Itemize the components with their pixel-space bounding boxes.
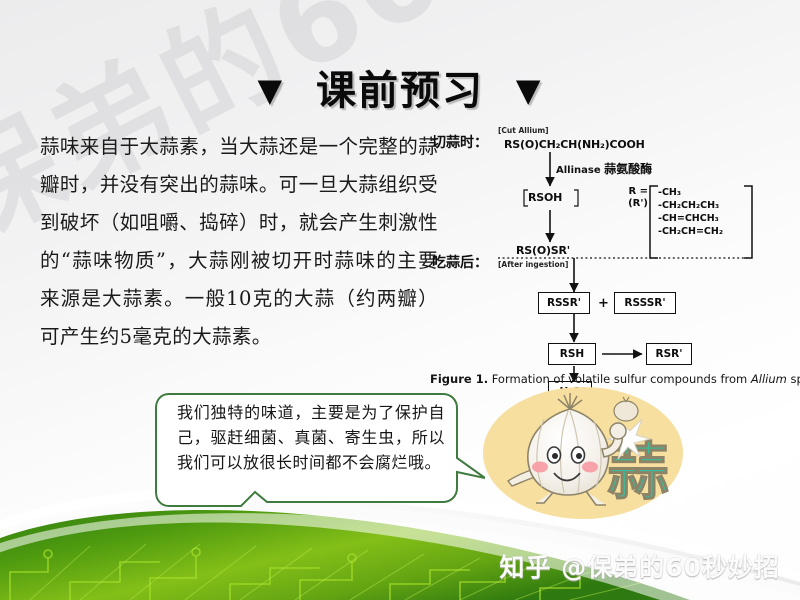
figure-caption-text-a: Formation of volatile sulfur compounds f… (492, 372, 748, 386)
bottom-right-watermark: 知乎 @保弟的60秒妙招 (500, 548, 781, 584)
figure-caption-italic: Allium (751, 372, 787, 386)
box-rsh: RSH (548, 343, 596, 365)
page-title: ▼ 课前预习 ▼ (258, 58, 543, 116)
title-bar: ▼ 课前预习 ▼ (0, 58, 800, 116)
r-group-item: -CH₂CH=CH₂ (658, 225, 723, 238)
mascot-fist (610, 423, 626, 439)
chem-precursor: RS(O)CH₂CH(NH₂)COOH (504, 138, 645, 151)
enzyme-label: Allinase 蒜氨酸酶 (556, 160, 652, 177)
triangle-left-icon: ▼ (258, 71, 285, 109)
mascot-blush-right (582, 462, 598, 473)
garlic-mascot-illustration: 蒜 (478, 385, 688, 525)
plus-sign: + (598, 296, 609, 311)
chemistry-figure: 切蒜时： 吃蒜后： (430, 124, 790, 394)
slide-canvas: 保弟的60秒妙招 (0, 0, 800, 600)
enzyme-name-en: Allinase (556, 165, 601, 176)
figure-caption-text-b: species. (791, 372, 800, 386)
enzyme-name-cn: 蒜氨酸酶 (604, 162, 652, 176)
r-group-list: -CH₃ -CH₂CH₂CH₃ -CH=CHCH₃ -CH₂CH=CH₂ (658, 186, 723, 238)
box-rsr: RSR' (646, 343, 692, 365)
small-clove-icon (614, 401, 638, 421)
chem-rsosr: RS(O)SR' (516, 244, 570, 257)
page-title-text: 课前预习 (316, 68, 484, 114)
body-paragraph: 蒜味来自于大蒜素，当大蒜还是一个完整的蒜瓣时，并没有突出的蒜味。可一旦大蒜组织受… (40, 128, 438, 356)
r-group-item: -CH=CHCH₃ (658, 212, 723, 225)
figure-caption: Figure 1. Formation of volatile sulfur c… (430, 372, 790, 386)
r-prime-label: (R') (628, 198, 648, 209)
tag-cut-allium: [Cut Allium] (498, 126, 549, 135)
mascot-blush-left (532, 462, 548, 473)
tag-after-ingestion: [After ingestion] (498, 260, 568, 269)
figure-diagram-body: [Cut Allium] RS(O)CH₂CH(NH₂)COOH Allinas… (498, 124, 790, 394)
r-equals-label: R = (628, 186, 648, 197)
speech-bubble: 我们独特的味道，主要是为了保护自己，驱赶细菌、真菌、寄生虫，所以我们可以放很长时… (155, 388, 485, 513)
r-group-equals: R =(R') (602, 186, 648, 210)
r-group-item: -CH₃ (658, 186, 723, 199)
chem-rsoh: RSOH (528, 191, 562, 204)
speech-bubble-text: 我们独特的味道，主要是为了保护自己，驱赶细菌、真菌、寄生虫，所以我们可以放很长时… (177, 400, 445, 475)
box-rssssr: RSSSR' (614, 292, 676, 314)
r-group-item: -CH₂CH₂CH₃ (658, 199, 723, 212)
figure-caption-number: Figure 1. (430, 372, 488, 386)
figure-label-after-eating: 吃蒜后： (432, 252, 488, 272)
figure-label-cutting: 切蒜时： (432, 132, 488, 152)
box-rssr: RSSR' (538, 292, 590, 314)
triangle-right-icon: ▼ (516, 71, 543, 109)
